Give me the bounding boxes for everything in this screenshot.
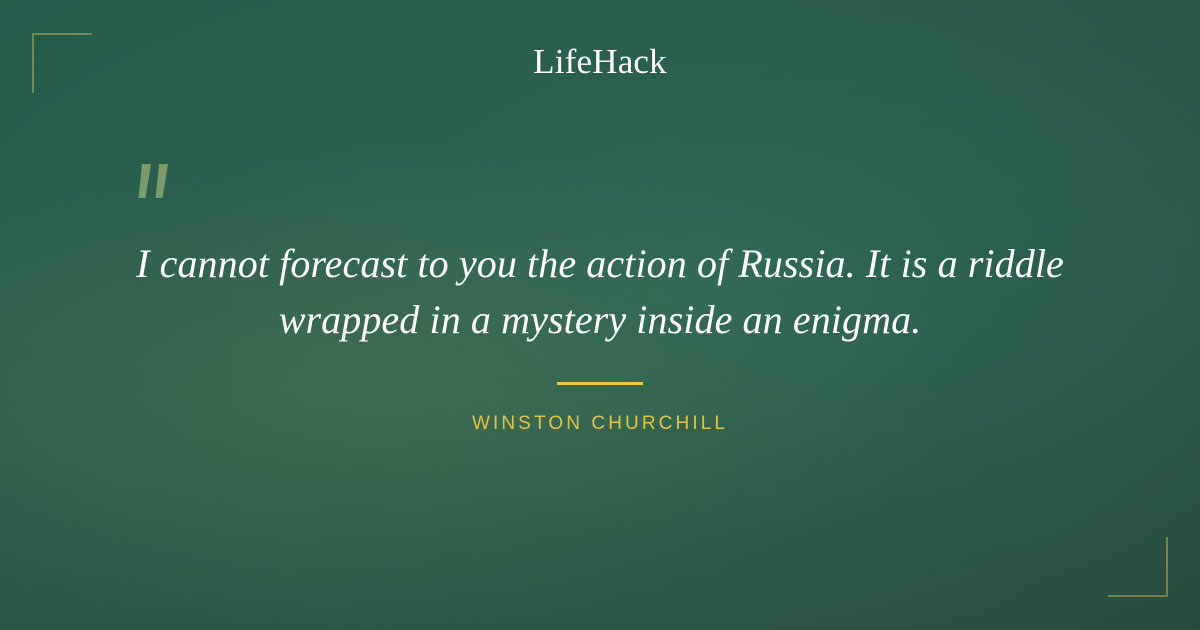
corner-bracket-bottom-right <box>1108 537 1168 597</box>
attribution-divider <box>557 382 643 385</box>
quote-block: I cannot forecast to you the action of R… <box>100 236 1100 348</box>
brand-logo: LifeHack <box>0 42 1200 82</box>
quote-mark-icon <box>126 158 196 228</box>
quote-author: WINSTON CHURCHILL <box>0 413 1200 435</box>
quote-card: LifeHack I cannot forecast to you the ac… <box>0 0 1200 630</box>
quote-text: I cannot forecast to you the action of R… <box>100 236 1100 348</box>
